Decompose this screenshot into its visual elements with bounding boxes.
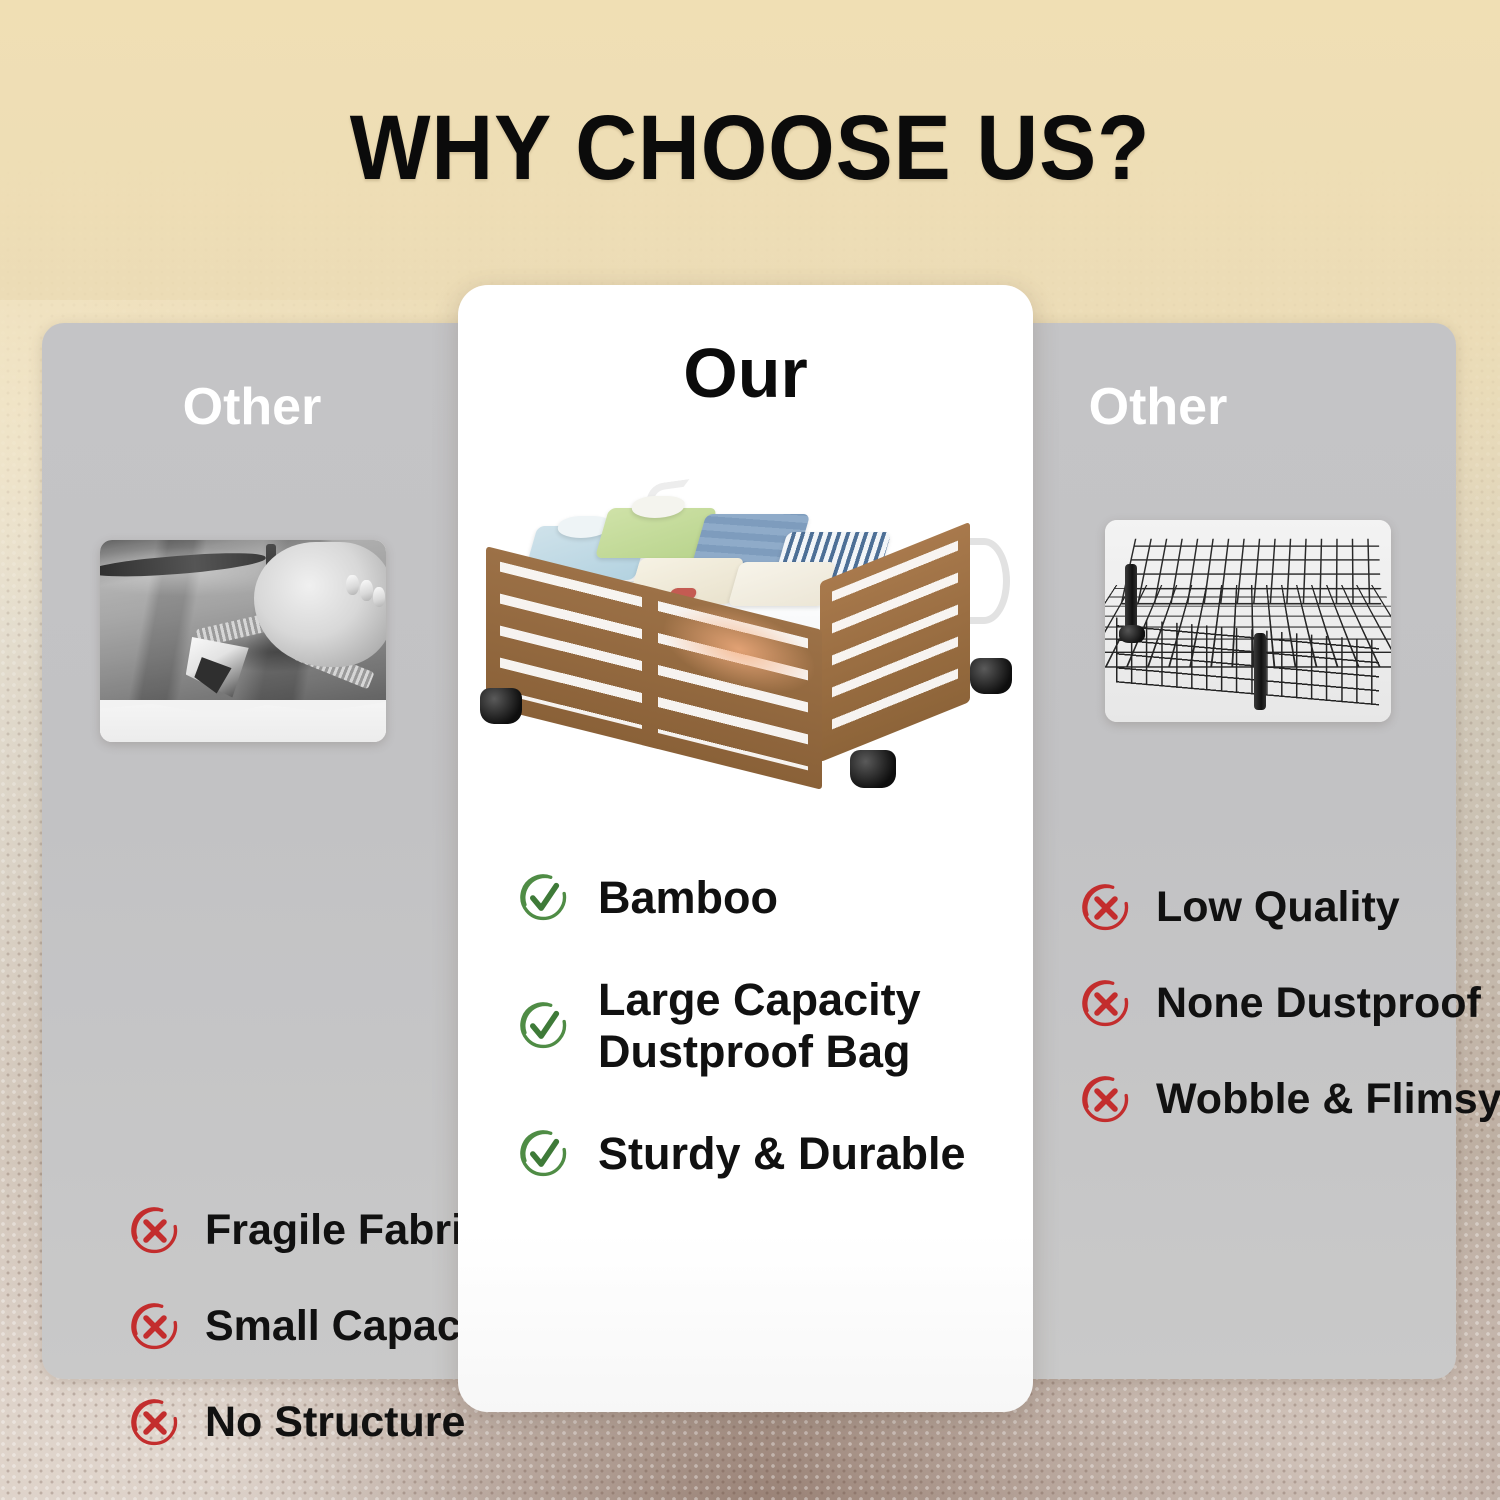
- feature-label: None Dustproof: [1156, 979, 1481, 1028]
- cross-circle-icon: [1078, 976, 1134, 1032]
- check-circle-icon: [516, 998, 572, 1054]
- comparison-panel-center-our: Our: [458, 285, 1033, 1412]
- zipper-tear-photo: [100, 540, 386, 742]
- feature-label: Wobble & Flimsy: [1156, 1075, 1500, 1124]
- finger: [346, 575, 358, 595]
- panel-left-heading: Other: [42, 377, 462, 437]
- feature-item: Bamboo: [516, 870, 1016, 926]
- wire-basket-photo: [1105, 520, 1391, 722]
- caster-wheel: [970, 658, 1012, 694]
- other-product-photo-fabric-bag: [100, 540, 386, 742]
- cross-circle-icon: [127, 1395, 183, 1451]
- feature-list-center: Bamboo Large Capacity Dustproof Bag Stur…: [516, 870, 1016, 1230]
- feature-label: Low Quality: [1156, 883, 1400, 932]
- feature-list-right: Low Quality None Dustproof Wobble & Flim…: [1078, 880, 1500, 1168]
- feature-label: Sturdy & Durable: [598, 1128, 966, 1180]
- cross-circle-icon: [127, 1299, 183, 1355]
- our-product-illustration-bamboo-storage-cart: [468, 460, 1028, 820]
- feature-item: Large Capacity Dustproof Bag: [516, 974, 1016, 1078]
- cross-circle-icon: [1078, 1072, 1134, 1128]
- finger: [373, 587, 385, 607]
- page-title: WHY CHOOSE US?: [53, 96, 1448, 201]
- caster-wheel: [850, 750, 896, 788]
- wire-corner-post: [1254, 633, 1266, 710]
- cross-circle-icon: [1078, 880, 1134, 936]
- feature-item: Low Quality: [1078, 880, 1500, 936]
- finger: [360, 580, 372, 601]
- other-product-photo-wire-basket: [1105, 520, 1391, 722]
- feature-label: Large Capacity Dustproof Bag: [598, 974, 921, 1078]
- photo-floor: [100, 696, 386, 742]
- bamboo-slats: [832, 541, 958, 740]
- feature-label: No Structure: [205, 1398, 465, 1447]
- panel-center-heading: Our: [458, 333, 1033, 413]
- feature-item: Wobble & Flimsy: [1078, 1072, 1500, 1128]
- caster-wheel: [480, 688, 522, 724]
- check-circle-icon: [516, 1126, 572, 1182]
- caster-wheel: [1119, 625, 1145, 643]
- feature-label: Fragile Fabric: [205, 1206, 487, 1255]
- feature-label: Bamboo: [598, 872, 778, 924]
- check-circle-icon: [516, 870, 572, 926]
- feature-item: Sturdy & Durable: [516, 1126, 1016, 1182]
- feature-item: None Dustproof: [1078, 976, 1500, 1032]
- cross-circle-icon: [127, 1203, 183, 1259]
